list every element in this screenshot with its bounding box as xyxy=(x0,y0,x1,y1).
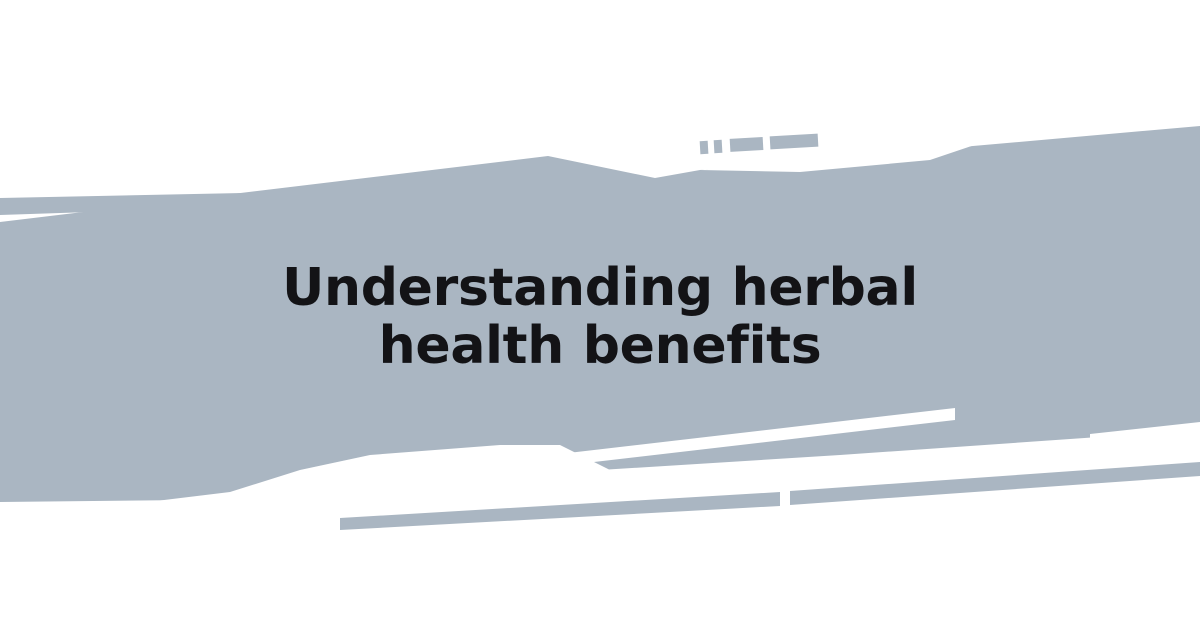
banner-accent-dash-4 xyxy=(770,134,819,150)
banner-card: Understanding herbal health benefits xyxy=(0,0,1200,630)
decorative-banner-graphic xyxy=(0,0,1200,630)
banner-accent-dash-1 xyxy=(700,141,709,154)
banner-accent-dash-2 xyxy=(714,140,723,153)
banner-accent-dash-3 xyxy=(730,137,764,152)
banner-main-slab xyxy=(0,126,1200,502)
